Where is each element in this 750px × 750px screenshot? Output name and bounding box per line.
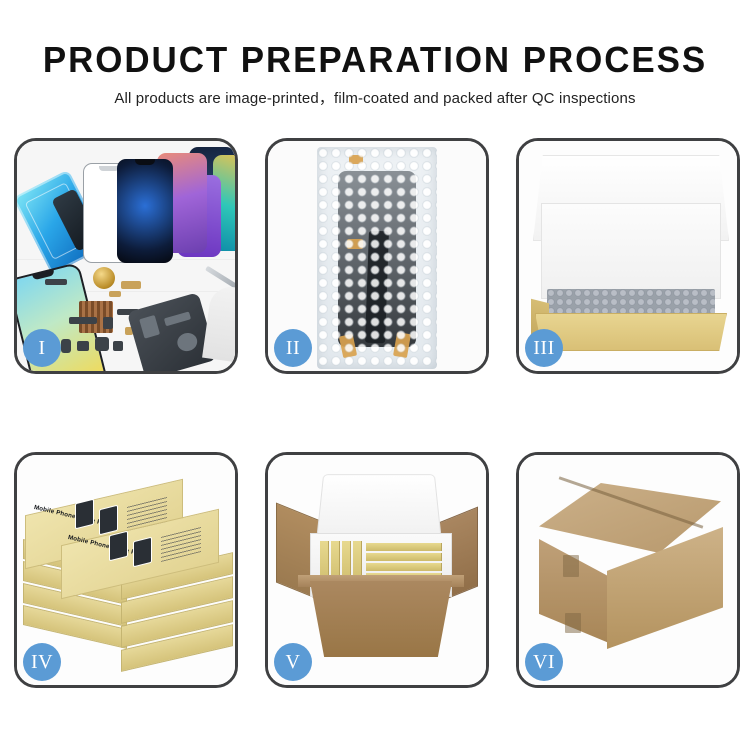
process-step-panel-3[interactable]: III xyxy=(516,138,740,374)
foam-liner xyxy=(541,203,721,299)
process-step-panel-2[interactable]: II xyxy=(265,138,489,374)
process-step-panel-4[interactable]: Mobile Phone Spare Parts Mobile Phone Sp… xyxy=(14,452,238,688)
step-badge-6: VI xyxy=(525,643,563,681)
process-step-grid: I II xyxy=(14,138,740,688)
step-badge-5: V xyxy=(274,643,312,681)
kraft-box-front xyxy=(535,313,727,351)
phone-display-icon xyxy=(117,159,173,263)
process-step-panel-1[interactable]: I xyxy=(14,138,238,374)
step-badge-3: III xyxy=(525,329,563,367)
page-subtitle: All products are image-printed，film-coat… xyxy=(0,89,750,108)
process-step-panel-5[interactable]: V xyxy=(265,452,489,688)
step-badge-4: IV xyxy=(23,643,61,681)
step-badge-2: II xyxy=(274,329,312,367)
header: PRODUCT PREPARATION PROCESS All products… xyxy=(0,0,750,108)
foam-box-lid xyxy=(316,474,441,537)
process-step-panel-6[interactable]: VI xyxy=(516,452,740,688)
bubble-wrap-package xyxy=(317,147,437,369)
speaker-coil-icon xyxy=(93,267,115,289)
step-badge-1: I xyxy=(23,329,61,367)
page-title: PRODUCT PREPARATION PROCESS xyxy=(11,40,739,80)
carton-body xyxy=(302,581,460,657)
product-preparation-infographic: PRODUCT PREPARATION PROCESS All products… xyxy=(0,0,750,750)
